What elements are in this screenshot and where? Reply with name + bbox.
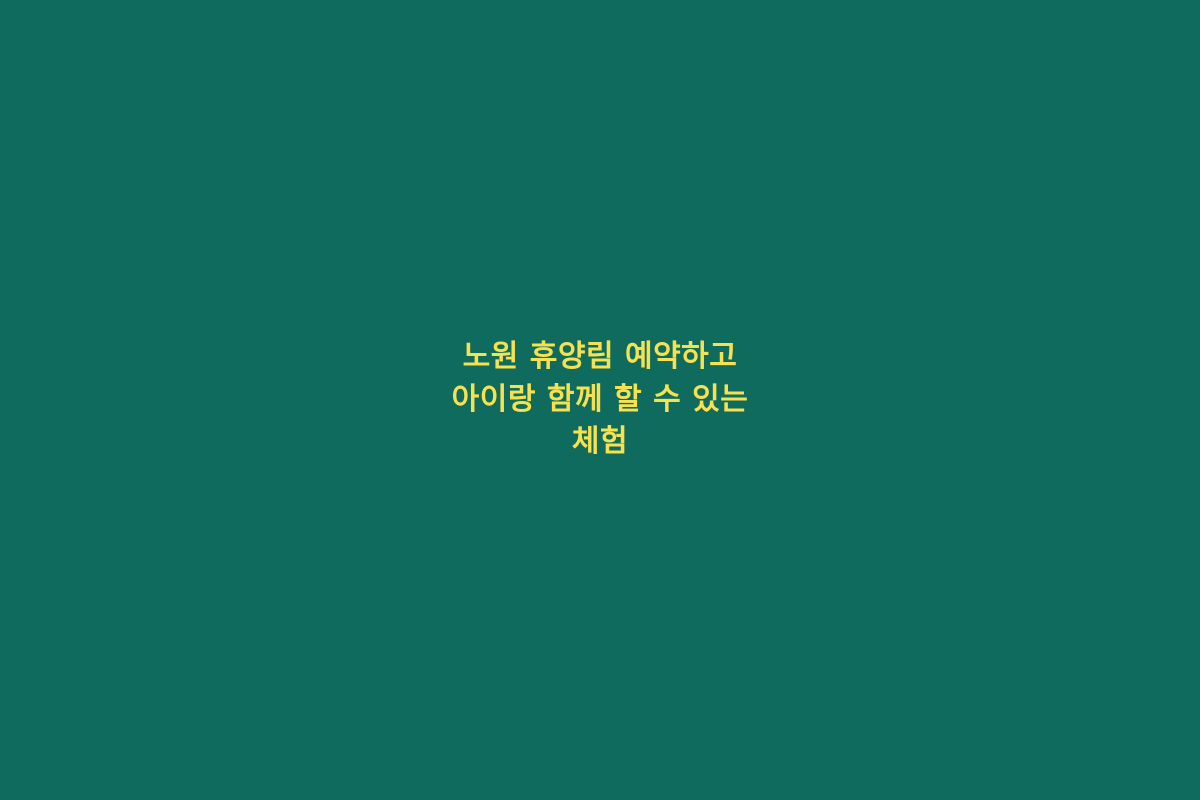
headline-line-3: 체험 [50,421,1150,464]
headline-text: 노원 휴양림 예약하고 아이랑 함께 할 수 있는 체험 [50,336,1150,464]
banner-canvas: 노원 휴양림 예약하고 아이랑 함께 할 수 있는 체험 [0,0,1200,800]
headline-line-2: 아이랑 함께 할 수 있는 [50,379,1150,422]
headline-line-1: 노원 휴양림 예약하고 [50,336,1150,379]
